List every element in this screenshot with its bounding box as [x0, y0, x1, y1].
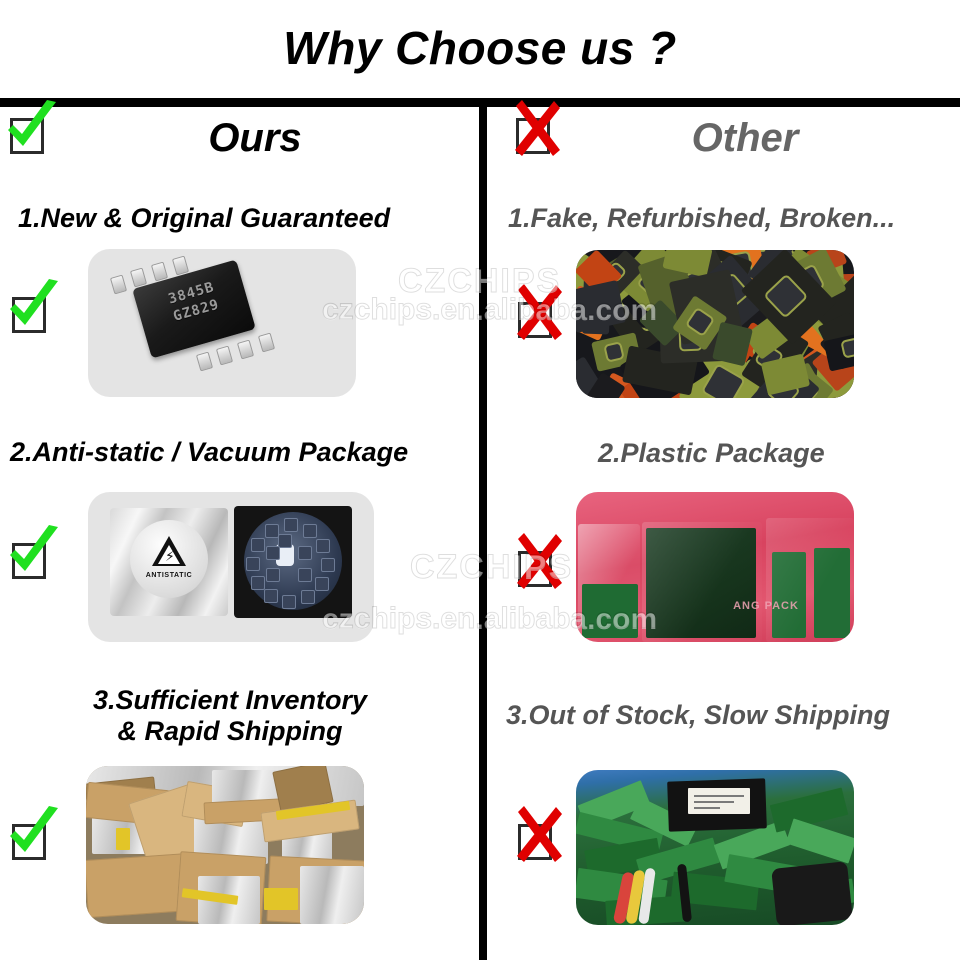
- module-label: [688, 788, 750, 814]
- column-header-ours: Ours: [0, 108, 470, 168]
- x-mark-icon: [508, 531, 570, 593]
- ours-feature-2-check: [8, 537, 52, 581]
- black-pad: [771, 861, 853, 925]
- check-mark-icon: [2, 804, 64, 866]
- other-feature-3-cross: [514, 818, 558, 862]
- ours-feature-1-check: [8, 291, 52, 335]
- ours-feature-3-line1: 3.Sufficient Inventory: [93, 685, 367, 715]
- other-feature-3-image: [576, 770, 854, 925]
- column-divider-rule: [479, 105, 487, 960]
- other-feature-1-cross: [514, 296, 558, 340]
- ours-feature-1-label: 1.New & Original Guaranteed: [18, 203, 390, 234]
- other-feature-2-label: 2.Plastic Package: [598, 438, 825, 469]
- ours-feature-3-check: [8, 818, 52, 862]
- tape-reel-box: [234, 506, 352, 618]
- why-choose-us-infographic: Why Choose us ? Ours Other 1.New & Origi…: [0, 0, 960, 960]
- x-mark-icon: [508, 804, 570, 866]
- other-feature-1-label: 1.Fake, Refurbished, Broken...: [508, 203, 895, 234]
- ours-feature-3-line2: & Rapid Shipping: [118, 716, 343, 746]
- x-mark-icon: [508, 282, 570, 344]
- column-header-other: Other: [490, 108, 960, 168]
- page-title: Why Choose us ?: [0, 24, 960, 72]
- other-feature-2-cross: [514, 545, 558, 589]
- ours-feature-3-image: [86, 766, 364, 924]
- check-mark-icon: [2, 523, 64, 585]
- ours-feature-1-image: 3845B GZ829: [88, 249, 356, 397]
- other-feature-3-label: 3.Out of Stock, Slow Shipping: [506, 700, 890, 731]
- pack-text: ANG PACK: [696, 600, 836, 612]
- ours-feature-2-label: 2.Anti-static / Vacuum Package: [10, 437, 408, 468]
- ours-feature-3-label: 3.Sufficient Inventory & Rapid Shipping: [40, 685, 420, 748]
- other-feature-2-image: ANG PACK: [576, 492, 854, 642]
- ours-feature-2-image: ⚡ ANTISTATIC: [88, 492, 374, 642]
- check-mark-icon: [2, 277, 64, 339]
- lightning-bolt-icon: ⚡: [165, 549, 175, 563]
- other-feature-1-image: [576, 250, 854, 398]
- bag-caption: ANTISTATIC: [134, 572, 204, 579]
